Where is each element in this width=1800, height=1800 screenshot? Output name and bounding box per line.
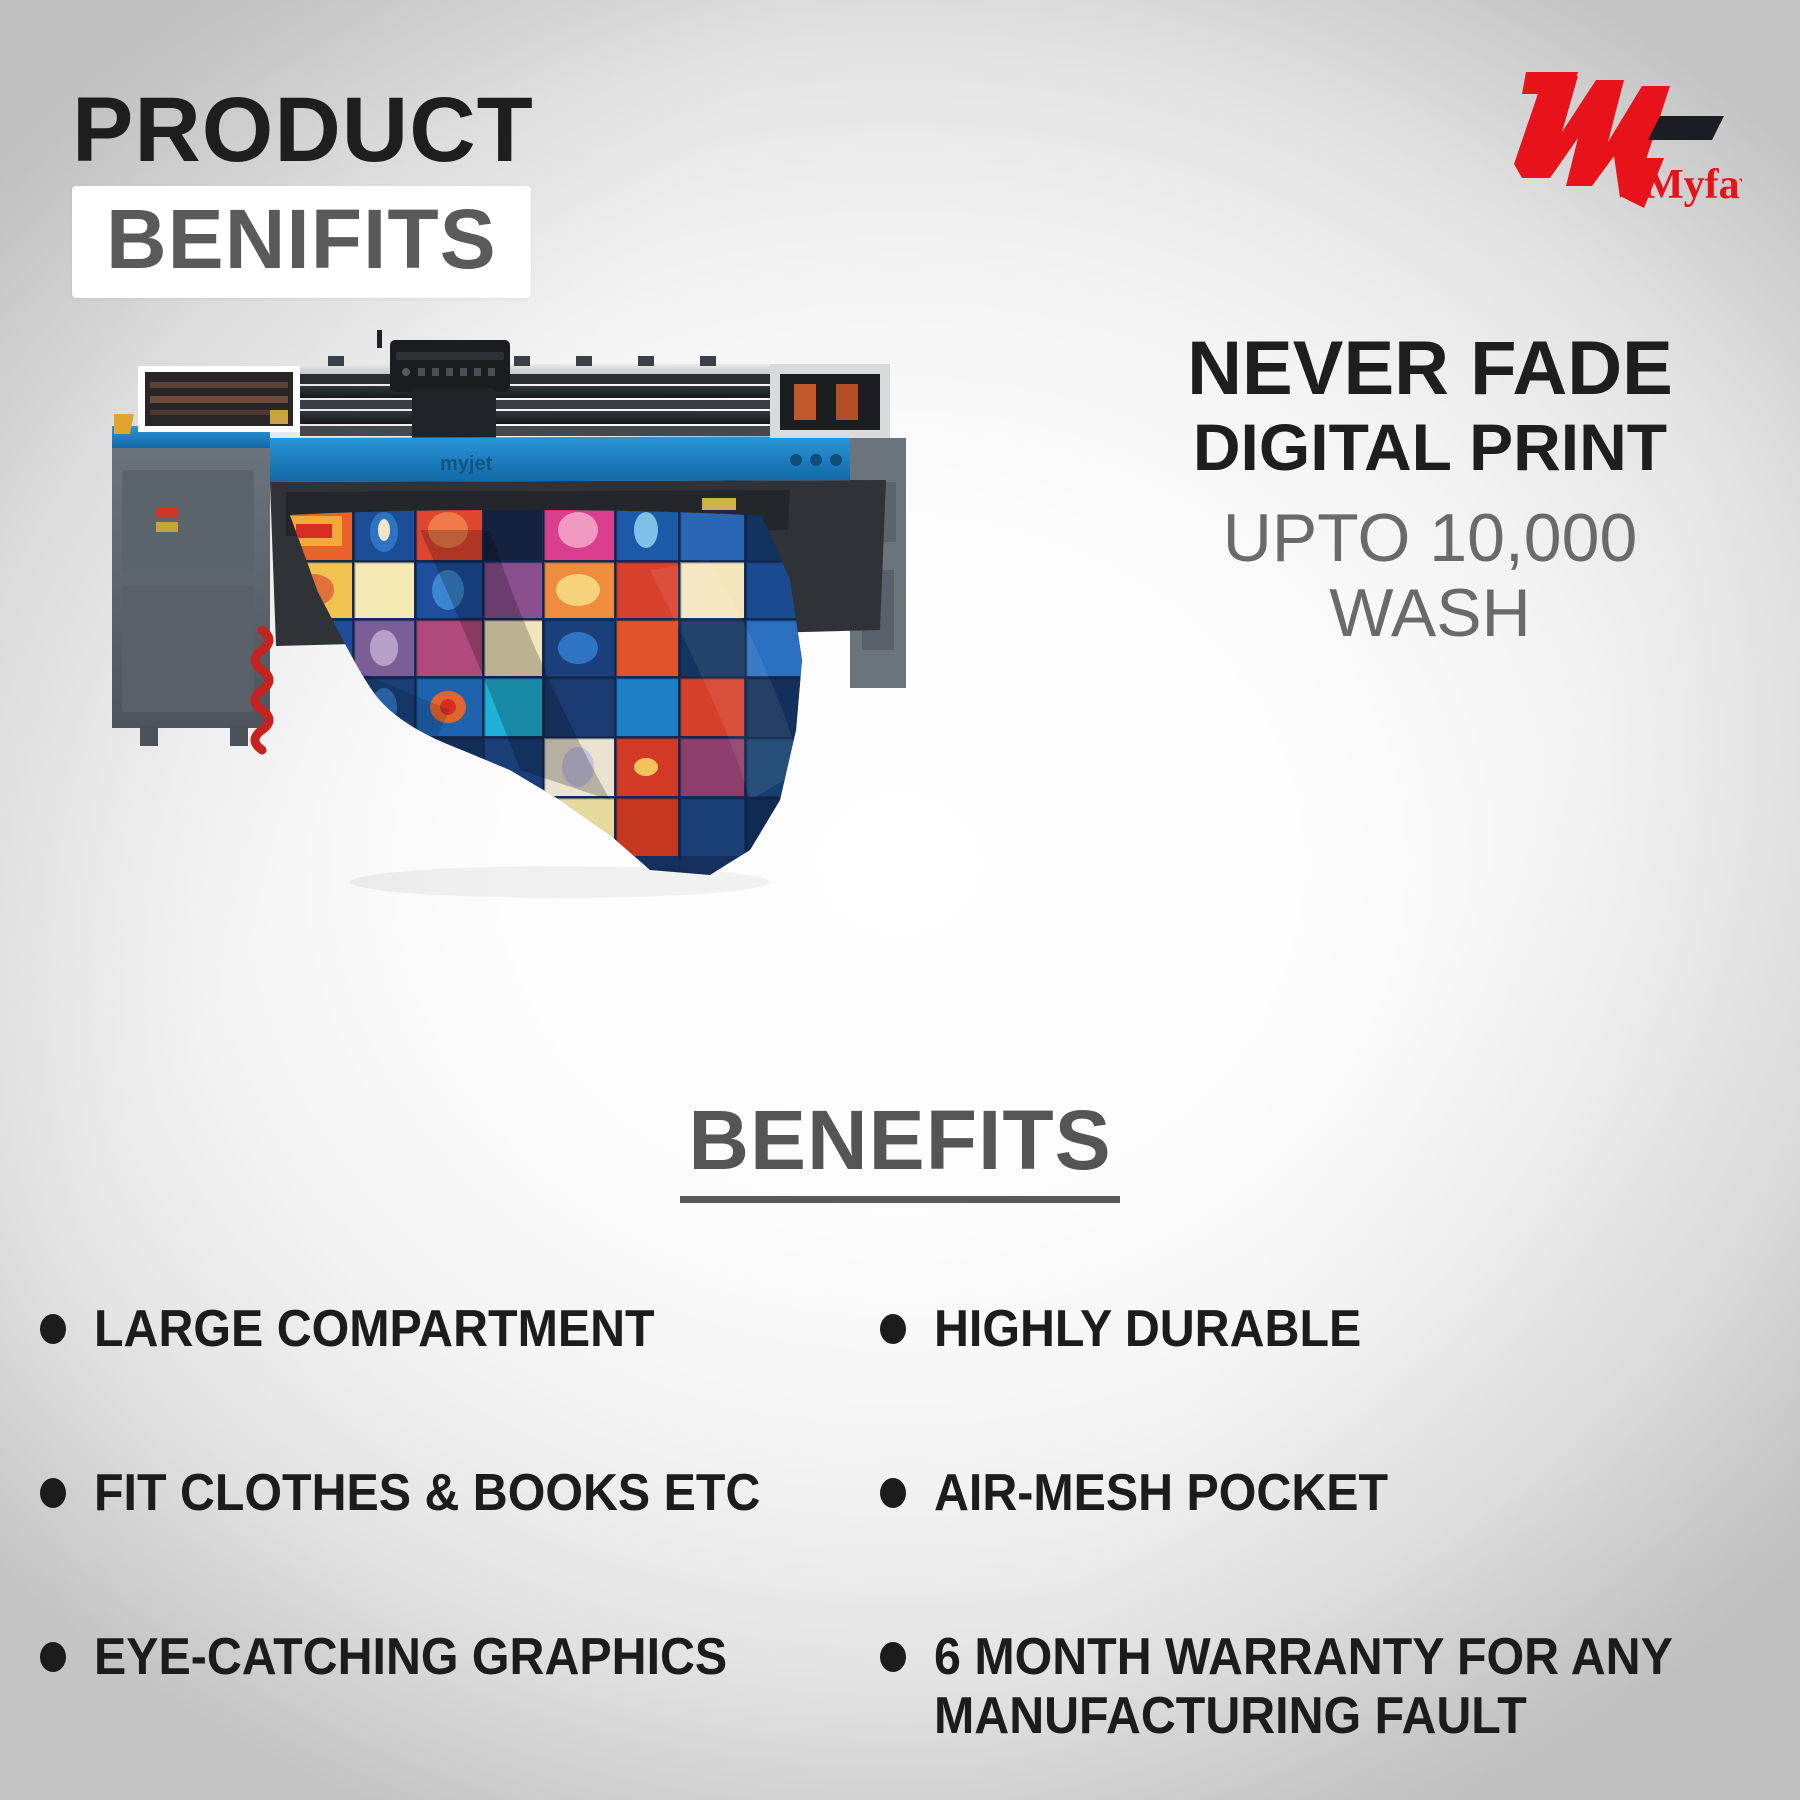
headline-block: NEVER FADE DIGITAL PRINT UPTO 10,000 WAS… <box>1120 330 1740 650</box>
printer-photo: myjet <box>90 330 1090 930</box>
list-item-label: 6 MONTH WARRANTY FOR ANY MANUFACTURING F… <box>934 1628 1721 1746</box>
headline-digital-print: DIGITAL PRINT <box>1120 412 1740 483</box>
bullet-dot-icon <box>40 1314 66 1344</box>
list-item-label: LARGE COMPARTMENT <box>94 1300 655 1358</box>
bullet-dot-icon <box>880 1314 906 1344</box>
title-line-product: PRODUCT <box>72 84 534 176</box>
svg-text:myjet: myjet <box>440 453 493 475</box>
printed-fabric <box>270 500 830 900</box>
headline-never-fade: NEVER FADE <box>1120 330 1740 408</box>
title-highlight-box: BENIFITS <box>72 186 531 298</box>
benefits-section-heading: BENEFITS <box>0 1098 1800 1203</box>
bullet-dot-icon <box>880 1478 906 1508</box>
list-item: LARGE COMPARTMENT <box>40 1300 870 1358</box>
logo-dash <box>1648 116 1724 140</box>
list-item: EYE-CATCHING GRAPHICS <box>40 1628 870 1686</box>
benefits-heading-text: BENEFITS <box>680 1098 1119 1203</box>
poster-canvas: PRODUCT BENIFITS Myfav NEVER FADE DIGITA… <box>0 0 1800 1800</box>
list-item-label: AIR-MESH POCKET <box>934 1464 1388 1522</box>
printer-left-cabinet <box>112 414 270 746</box>
bullet-dot-icon <box>40 1478 66 1508</box>
page-title: PRODUCT BENIFITS <box>72 84 534 298</box>
headline-upto-wash-count: UPTO 10,000 <box>1120 501 1740 576</box>
logo-wordmark: Myfav <box>1644 162 1742 208</box>
bullet-dot-icon <box>40 1642 66 1672</box>
benefits-column-right: HIGHLY DURABLE AIR-MESH POCKET 6 MONTH W… <box>880 1300 1780 1746</box>
headline-wash-label: WASH <box>1120 576 1740 651</box>
list-item-label: HIGHLY DURABLE <box>934 1300 1361 1358</box>
list-item: 6 MONTH WARRANTY FOR ANY MANUFACTURING F… <box>880 1628 1780 1746</box>
list-item-label: FIT CLOTHES & BOOKS ETC <box>94 1464 760 1522</box>
benefits-column-left: LARGE COMPARTMENT FIT CLOTHES & BOOKS ET… <box>40 1300 870 1791</box>
title-line-benifits: BENIFITS <box>106 200 497 280</box>
bullet-dot-icon <box>880 1642 906 1672</box>
list-item: FIT CLOTHES & BOOKS ETC <box>40 1464 870 1522</box>
printer-gantry <box>300 356 770 436</box>
printer-glass-window <box>138 366 300 432</box>
list-item: AIR-MESH POCKET <box>880 1464 1780 1522</box>
brand-logo: Myfav <box>1492 46 1742 216</box>
list-item: HIGHLY DURABLE <box>880 1300 1780 1358</box>
printer-blue-beam: myjet <box>270 436 886 482</box>
list-item-label: EYE-CATCHING GRAPHICS <box>94 1628 727 1686</box>
